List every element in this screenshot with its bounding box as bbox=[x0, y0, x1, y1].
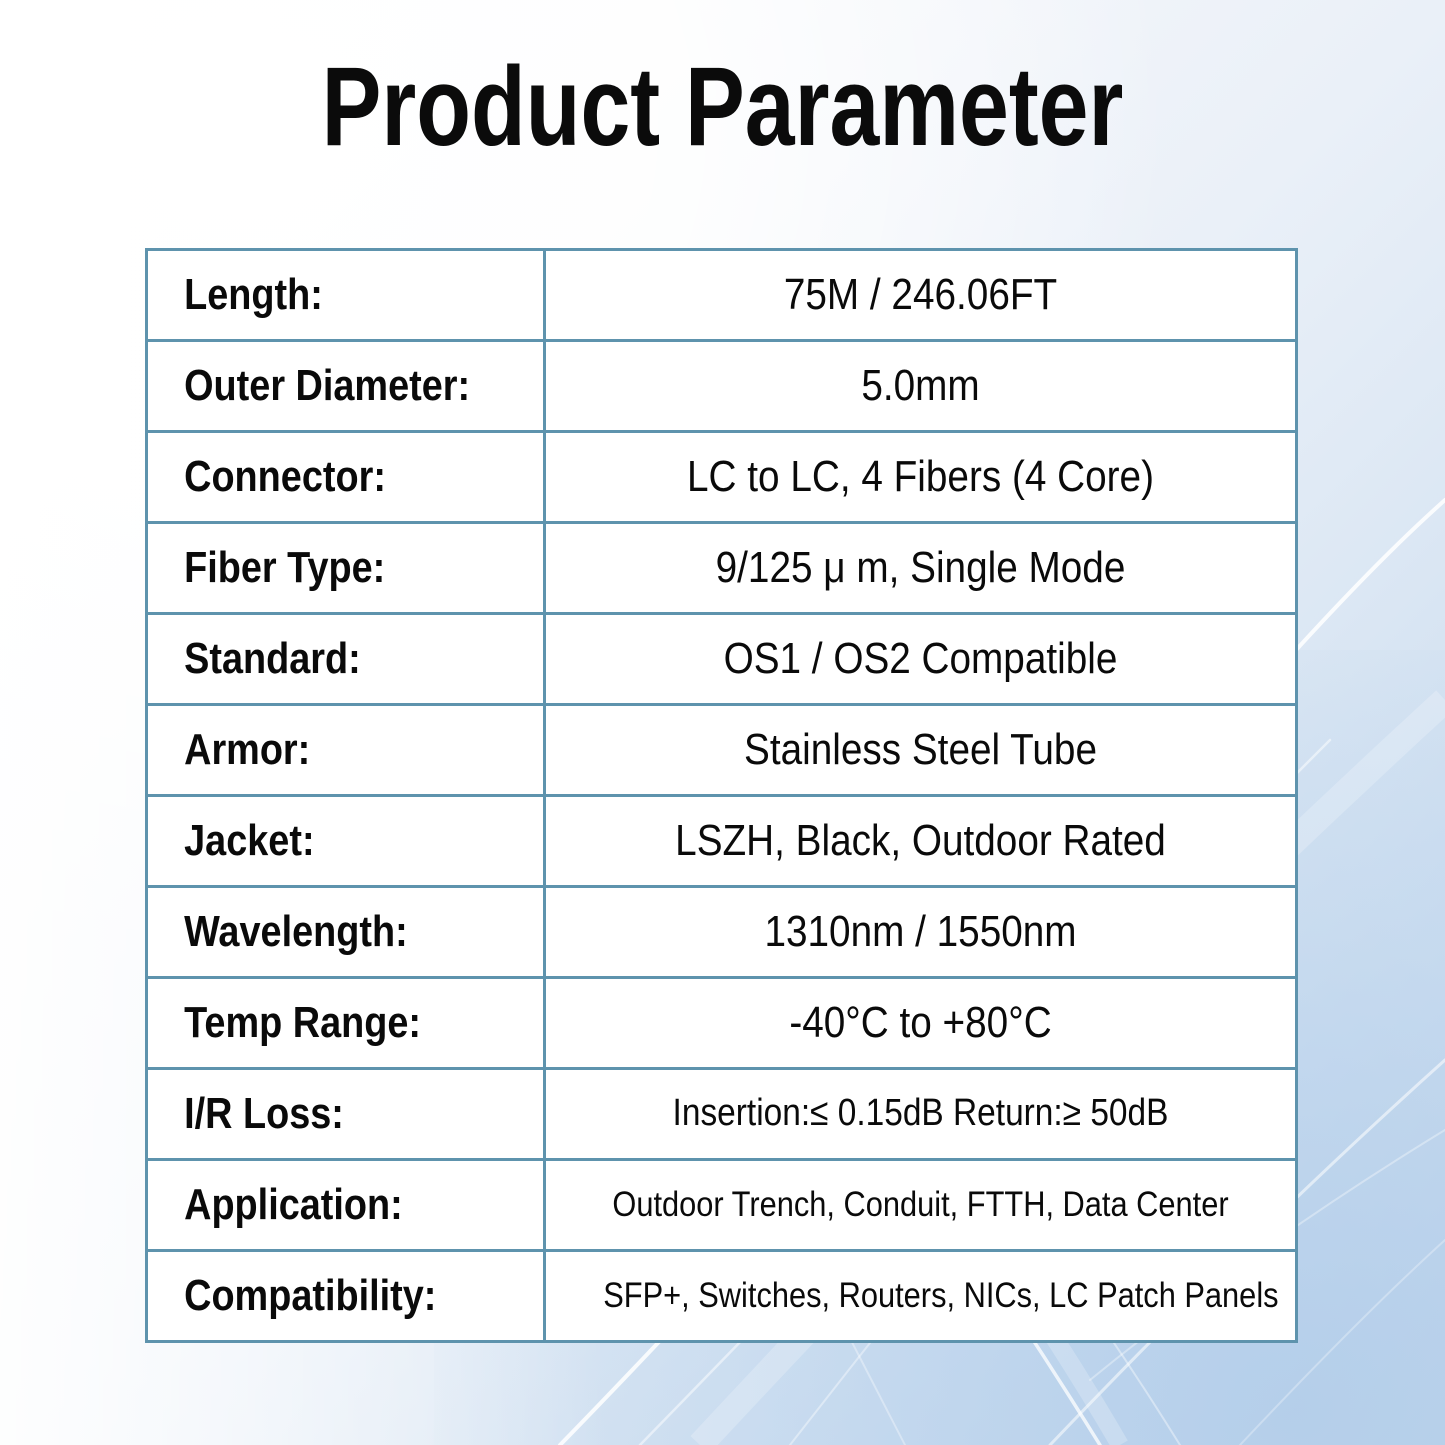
table-row: Application: Outdoor Trench, Conduit, FT… bbox=[147, 1160, 1297, 1251]
table-cell-value: SFP+, Switches, Routers, NICs, LC Patch … bbox=[545, 1251, 1297, 1342]
param-value: 1310nm / 1550nm bbox=[591, 909, 1250, 955]
table-cell-label: Application: bbox=[147, 1160, 545, 1251]
param-value: Insertion:≤ 0.15dB Return:≥ 50dB bbox=[591, 1094, 1250, 1134]
page-title: Product Parameter bbox=[145, 48, 1301, 166]
param-label: Fiber Type: bbox=[148, 545, 488, 591]
param-value: SFP+, Switches, Routers, NICs, LC Patch … bbox=[591, 1278, 1250, 1315]
table-row: Outer Diameter: 5.0mm bbox=[147, 341, 1297, 432]
table-row: Armor: Stainless Steel Tube bbox=[147, 705, 1297, 796]
table-row: Compatibility: SFP+, Switches, Routers, … bbox=[147, 1251, 1297, 1342]
param-value: 5.0mm bbox=[591, 363, 1250, 409]
table-cell-label: Wavelength: bbox=[147, 887, 545, 978]
table-cell-label: Outer Diameter: bbox=[147, 341, 545, 432]
param-value: OS1 / OS2 Compatible bbox=[591, 636, 1250, 682]
param-value: LSZH, Black, Outdoor Rated bbox=[591, 818, 1250, 864]
param-value: Outdoor Trench, Conduit, FTTH, Data Cent… bbox=[591, 1187, 1250, 1224]
table-cell-label: Fiber Type: bbox=[147, 523, 545, 614]
product-parameter-table: Length: 75M / 246.06FT Outer Diameter: 5… bbox=[145, 248, 1298, 1343]
table-cell-value: OS1 / OS2 Compatible bbox=[545, 614, 1297, 705]
param-label: Compatibility: bbox=[148, 1273, 488, 1319]
table-cell-label: Standard: bbox=[147, 614, 545, 705]
table-cell-value: 5.0mm bbox=[545, 341, 1297, 432]
param-label: Temp Range: bbox=[148, 1000, 488, 1046]
table-row: Temp Range: -40°C to +80°C bbox=[147, 978, 1297, 1069]
table-cell-value: -40°C to +80°C bbox=[545, 978, 1297, 1069]
param-label: Jacket: bbox=[148, 818, 488, 864]
table-cell-value: LSZH, Black, Outdoor Rated bbox=[545, 796, 1297, 887]
table-row: I/R Loss: Insertion:≤ 0.15dB Return:≥ 50… bbox=[147, 1069, 1297, 1160]
param-label: Connector: bbox=[148, 454, 488, 500]
param-value: Stainless Steel Tube bbox=[591, 727, 1250, 773]
table-row: Wavelength: 1310nm / 1550nm bbox=[147, 887, 1297, 978]
param-label: Armor: bbox=[148, 727, 488, 773]
table-cell-value: Insertion:≤ 0.15dB Return:≥ 50dB bbox=[545, 1069, 1297, 1160]
table-row: Fiber Type: 9/125 μ m, Single Mode bbox=[147, 523, 1297, 614]
table-cell-label: Temp Range: bbox=[147, 978, 545, 1069]
param-label: Outer Diameter: bbox=[148, 363, 488, 409]
table-cell-label: Armor: bbox=[147, 705, 545, 796]
table-cell-value: Stainless Steel Tube bbox=[545, 705, 1297, 796]
table-cell-label: Compatibility: bbox=[147, 1251, 545, 1342]
param-value: -40°C to +80°C bbox=[591, 1000, 1250, 1046]
table-cell-value: LC to LC, 4 Fibers (4 Core) bbox=[545, 432, 1297, 523]
table-cell-label: Jacket: bbox=[147, 796, 545, 887]
table-row: Jacket: LSZH, Black, Outdoor Rated bbox=[147, 796, 1297, 887]
table-cell-value: 9/125 μ m, Single Mode bbox=[545, 523, 1297, 614]
param-label: Wavelength: bbox=[148, 909, 488, 955]
param-label: I/R Loss: bbox=[148, 1091, 488, 1137]
table-row: Length: 75M / 246.06FT bbox=[147, 250, 1297, 341]
param-value: 75M / 246.06FT bbox=[591, 272, 1250, 318]
table-cell-value: Outdoor Trench, Conduit, FTTH, Data Cent… bbox=[545, 1160, 1297, 1251]
product-parameter-page: Product Parameter Length: 75M / 246.06FT… bbox=[0, 0, 1445, 1445]
param-value: LC to LC, 4 Fibers (4 Core) bbox=[591, 454, 1250, 500]
table-cell-label: Length: bbox=[147, 250, 545, 341]
table-cell-label: I/R Loss: bbox=[147, 1069, 545, 1160]
table-cell-label: Connector: bbox=[147, 432, 545, 523]
param-label: Length: bbox=[148, 272, 488, 318]
param-label: Application: bbox=[148, 1182, 488, 1228]
table-cell-value: 1310nm / 1550nm bbox=[545, 887, 1297, 978]
param-label: Standard: bbox=[148, 636, 488, 682]
param-value: 9/125 μ m, Single Mode bbox=[591, 545, 1250, 591]
table-row: Standard: OS1 / OS2 Compatible bbox=[147, 614, 1297, 705]
table-row: Connector: LC to LC, 4 Fibers (4 Core) bbox=[147, 432, 1297, 523]
table-cell-value: 75M / 246.06FT bbox=[545, 250, 1297, 341]
